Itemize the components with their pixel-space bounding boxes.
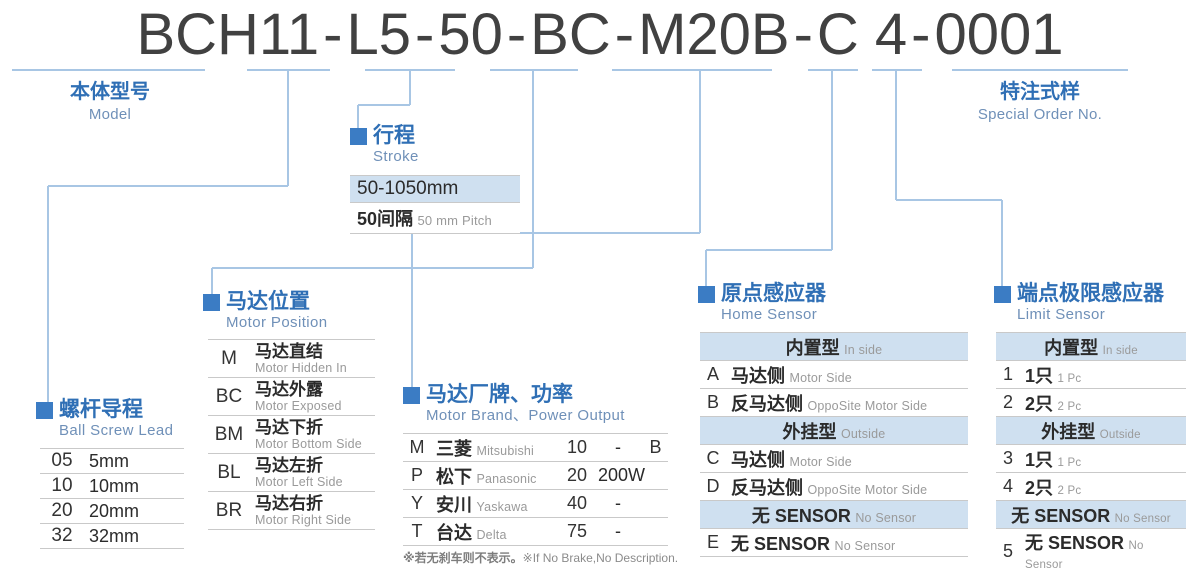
brand-code-cell: Y (403, 490, 431, 518)
sensor-group-cell: 外挂型 Outside (996, 417, 1186, 445)
ball-screw-lead-heading: 螺杆导程 Ball Screw Lead (36, 398, 184, 440)
table-row[interactable]: 无 SENSOR No Sensor (996, 501, 1186, 529)
table-row[interactable]: 50间隔 50 mm Pitch (350, 203, 520, 234)
stroke-pitch-en: 50 mm Pitch (417, 213, 491, 228)
square-marker-icon (203, 294, 220, 311)
power-value-cell: - (593, 434, 643, 462)
motor-position-code-cell: BR (208, 492, 250, 530)
section-stroke: 行程 Stroke 50-1050mm 50间隔 50 mm Pitch (350, 124, 520, 234)
sensor-code-cell: B (700, 389, 726, 417)
home-sensor-table: 内置型 In sideA马达侧 Motor SideB反马达侧 OppoSite… (700, 332, 968, 557)
table-row[interactable]: M三菱 Mitsubishi10-B (403, 434, 668, 462)
sensor-code-cell: 2 (996, 389, 1020, 417)
table-row[interactable]: 50-1050mm (350, 176, 520, 203)
table-row[interactable]: BR马达右折Motor Right Side (208, 492, 375, 530)
home-sensor-heading-en: Home Sensor (721, 306, 826, 324)
square-marker-icon (994, 286, 1011, 303)
limit-sensor-heading-cn: 端点极限感应器 (1017, 282, 1164, 306)
stroke-table: 50-1050mm 50间隔 50 mm Pitch (350, 175, 520, 234)
sensor-desc-cell: 马达侧 Motor Side (726, 361, 968, 389)
brand-name-cell: 三菱 Mitsubishi (431, 434, 561, 462)
brand-name-cell: 松下 Panasonic (431, 462, 561, 490)
sensor-desc-cell: 无 SENSOR No Sensor (726, 529, 968, 557)
section-home-sensor: 原点感应器 Home Sensor 内置型 In sideA马达侧 Motor … (698, 282, 968, 557)
lead-code-cell: 05 (40, 449, 84, 474)
label-model-cn: 本体型号 (22, 80, 198, 105)
sensor-code-cell: 3 (996, 445, 1020, 473)
home-sensor-body: 内置型 In sideA马达侧 Motor SideB反马达侧 OppoSite… (700, 333, 968, 557)
motor-position-heading: 马达位置 Motor Position (203, 290, 375, 332)
table-row[interactable]: 2020mm (40, 499, 184, 524)
sensor-desc-cell: 反马达侧 OppoSite Motor Side (726, 389, 968, 417)
sensor-desc-cell: 2只 2 Pc (1020, 473, 1186, 501)
brand-code-cell: T (403, 518, 431, 546)
table-row[interactable]: E无 SENSOR No Sensor (700, 529, 968, 557)
stroke-heading-en: Stroke (373, 148, 419, 166)
table-row[interactable]: A马达侧 Motor Side (700, 361, 968, 389)
motor-position-table: M马达直结Motor Hidden InBC马达外露Motor ExposedB… (208, 339, 375, 530)
ball-screw-lead-heading-en: Ball Screw Lead (59, 422, 173, 440)
sensor-code-cell: C (700, 445, 726, 473)
table-row[interactable]: T台达 Delta75- (403, 518, 668, 546)
motor-position-desc-cell: 马达直结Motor Hidden In (250, 340, 375, 378)
square-marker-icon (350, 128, 367, 145)
table-row[interactable]: 11只 1 Pc (996, 361, 1186, 389)
brake-code-cell (643, 462, 668, 490)
motor-position-code-cell: BM (208, 416, 250, 454)
motor-brand-heading: 马达厂牌、功率 Motor Brand、Power Output (403, 383, 678, 425)
motor-position-body: M马达直结Motor Hidden InBC马达外露Motor ExposedB… (208, 340, 375, 530)
label-special-order: 特注式样 Special Order No. (942, 80, 1138, 124)
table-row[interactable]: 外挂型 Outside (700, 417, 968, 445)
label-special-order-cn: 特注式样 (942, 80, 1138, 105)
brand-name-cell: 台达 Delta (431, 518, 561, 546)
ball-screw-lead-heading-cn: 螺杆导程 (59, 398, 173, 422)
stroke-pitch-cn: 50间隔 (357, 209, 413, 229)
sensor-group-cell: 内置型 In side (700, 333, 968, 361)
table-row[interactable]: C马达侧 Motor Side (700, 445, 968, 473)
sensor-group-cell: 无 SENSOR No Sensor (700, 501, 968, 529)
motor-brand-note-cn: ※若无刹车则不表示。 (403, 551, 523, 565)
power-code-cell: 75 (561, 518, 593, 546)
power-code-cell: 40 (561, 490, 593, 518)
motor-position-desc-cell: 马达左折Motor Left Side (250, 454, 375, 492)
section-motor-position: 马达位置 Motor Position M马达直结Motor Hidden In… (203, 290, 375, 530)
brand-code-cell: M (403, 434, 431, 462)
table-row[interactable]: 内置型 In side (700, 333, 968, 361)
sensor-desc-cell: 1只 1 Pc (1020, 445, 1186, 473)
brand-name-cell: 安川 Yaskawa (431, 490, 561, 518)
motor-position-desc-cell: 马达外露Motor Exposed (250, 378, 375, 416)
ball-screw-lead-body: 055mm1010mm2020mm3232mm (40, 449, 184, 549)
power-value-cell: 200W (593, 462, 643, 490)
home-sensor-heading-cn: 原点感应器 (721, 282, 826, 306)
table-row[interactable]: D反马达侧 OppoSite Motor Side (700, 473, 968, 501)
table-row[interactable]: 31只 1 Pc (996, 445, 1186, 473)
motor-brand-note-en: ※If No Brake,No Description. (523, 551, 678, 565)
lead-code-cell: 10 (40, 474, 84, 499)
lead-value-cell: 20mm (84, 499, 184, 524)
lead-value-cell: 10mm (84, 474, 184, 499)
power-value-cell: - (593, 518, 643, 546)
table-row[interactable]: 外挂型 Outside (996, 417, 1186, 445)
motor-brand-heading-cn: 马达厂牌、功率 (426, 383, 625, 407)
motor-brand-table: M三菱 Mitsubishi10-BP松下 Panasonic20200WY安川… (403, 433, 668, 546)
square-marker-icon (698, 286, 715, 303)
sensor-desc-cell: 1只 1 Pc (1020, 361, 1186, 389)
motor-brand-note: ※若无刹车则不表示。※If No Brake,No Description. (403, 549, 678, 566)
label-model-en: Model (22, 105, 198, 124)
square-marker-icon (403, 387, 420, 404)
table-row[interactable]: 42只 2 Pc (996, 473, 1186, 501)
label-model: 本体型号 Model (22, 80, 198, 124)
sensor-code-cell: E (700, 529, 726, 557)
sensor-desc-cell: 马达侧 Motor Side (726, 445, 968, 473)
power-value-cell: - (593, 490, 643, 518)
sensor-desc-cell: 2只 2 Pc (1020, 389, 1186, 417)
home-sensor-heading: 原点感应器 Home Sensor (698, 282, 968, 324)
motor-position-code-cell: M (208, 340, 250, 378)
sensor-code-cell: 1 (996, 361, 1020, 389)
table-row[interactable]: BM马达下折Motor Bottom Side (208, 416, 375, 454)
sensor-code-cell: D (700, 473, 726, 501)
table-row[interactable]: Y安川 Yaskawa40- (403, 490, 668, 518)
lead-value-cell: 32mm (84, 524, 184, 549)
label-special-order-en: Special Order No. (942, 105, 1138, 124)
table-row[interactable]: 无 SENSOR No Sensor (700, 501, 968, 529)
table-row[interactable]: 055mm (40, 449, 184, 474)
table-row[interactable]: 1010mm (40, 474, 184, 499)
table-row[interactable]: 内置型 In side (996, 333, 1186, 361)
brand-code-cell: P (403, 462, 431, 490)
sensor-desc-cell: 反马达侧 OppoSite Motor Side (726, 473, 968, 501)
table-row[interactable]: P松下 Panasonic20200W (403, 462, 668, 490)
limit-sensor-heading: 端点极限感应器 Limit Sensor (994, 282, 1186, 324)
section-limit-sensor: 端点极限感应器 Limit Sensor 内置型 In side11只 1 Pc… (994, 282, 1186, 570)
sensor-code-cell: A (700, 361, 726, 389)
limit-sensor-table: 内置型 In side11只 1 Pc22只 2 Pc外挂型 Outside31… (996, 332, 1186, 570)
sensor-group-cell: 无 SENSOR No Sensor (996, 501, 1186, 529)
sensor-code-cell: 5 (996, 529, 1020, 570)
motor-position-desc-cell: 马达右折Motor Right Side (250, 492, 375, 530)
table-row[interactable]: M马达直结Motor Hidden In (208, 340, 375, 378)
lead-code-cell: 20 (40, 499, 84, 524)
sensor-group-cell: 外挂型 Outside (700, 417, 968, 445)
stroke-range-cell: 50-1050mm (350, 176, 520, 203)
table-row[interactable]: 5无 SENSOR No Sensor (996, 529, 1186, 570)
brake-code-cell (643, 518, 668, 546)
power-code-cell: 10 (561, 434, 593, 462)
motor-position-heading-en: Motor Position (226, 314, 327, 332)
stroke-heading-cn: 行程 (373, 124, 419, 148)
table-row[interactable]: B反马达侧 OppoSite Motor Side (700, 389, 968, 417)
limit-sensor-body: 内置型 In side11只 1 Pc22只 2 Pc外挂型 Outside31… (996, 333, 1186, 570)
table-row[interactable]: BC马达外露Motor Exposed (208, 378, 375, 416)
sensor-code-cell: 4 (996, 473, 1020, 501)
stroke-heading: 行程 Stroke (350, 124, 520, 166)
sensor-desc-cell: 无 SENSOR No Sensor (1020, 529, 1186, 570)
section-ball-screw-lead: 螺杆导程 Ball Screw Lead 055mm1010mm2020mm32… (36, 398, 184, 549)
limit-sensor-heading-en: Limit Sensor (1017, 306, 1164, 324)
sensor-group-cell: 内置型 In side (996, 333, 1186, 361)
ball-screw-lead-table: 055mm1010mm2020mm3232mm (40, 448, 184, 549)
brake-code-cell (643, 490, 668, 518)
section-motor-brand: 马达厂牌、功率 Motor Brand、Power Output M三菱 Mit… (403, 383, 678, 566)
motor-position-desc-cell: 马达下折Motor Bottom Side (250, 416, 375, 454)
product-code-diagram: BCH11 - L5 - 50 - BC - M20B - C 4 - 0001 (0, 0, 1200, 570)
square-marker-icon (36, 402, 53, 419)
motor-brand-heading-en: Motor Brand、Power Output (426, 407, 625, 425)
lead-value-cell: 5mm (84, 449, 184, 474)
motor-position-heading-cn: 马达位置 (226, 290, 327, 314)
motor-position-code-cell: BL (208, 454, 250, 492)
brake-code-cell: B (643, 434, 668, 462)
lead-code-cell: 32 (40, 524, 84, 549)
stroke-pitch-cell: 50间隔 50 mm Pitch (350, 203, 520, 234)
table-row[interactable]: BL马达左折Motor Left Side (208, 454, 375, 492)
table-row[interactable]: 3232mm (40, 524, 184, 549)
motor-brand-body: M三菱 Mitsubishi10-BP松下 Panasonic20200WY安川… (403, 434, 668, 546)
power-code-cell: 20 (561, 462, 593, 490)
motor-position-code-cell: BC (208, 378, 250, 416)
table-row[interactable]: 22只 2 Pc (996, 389, 1186, 417)
